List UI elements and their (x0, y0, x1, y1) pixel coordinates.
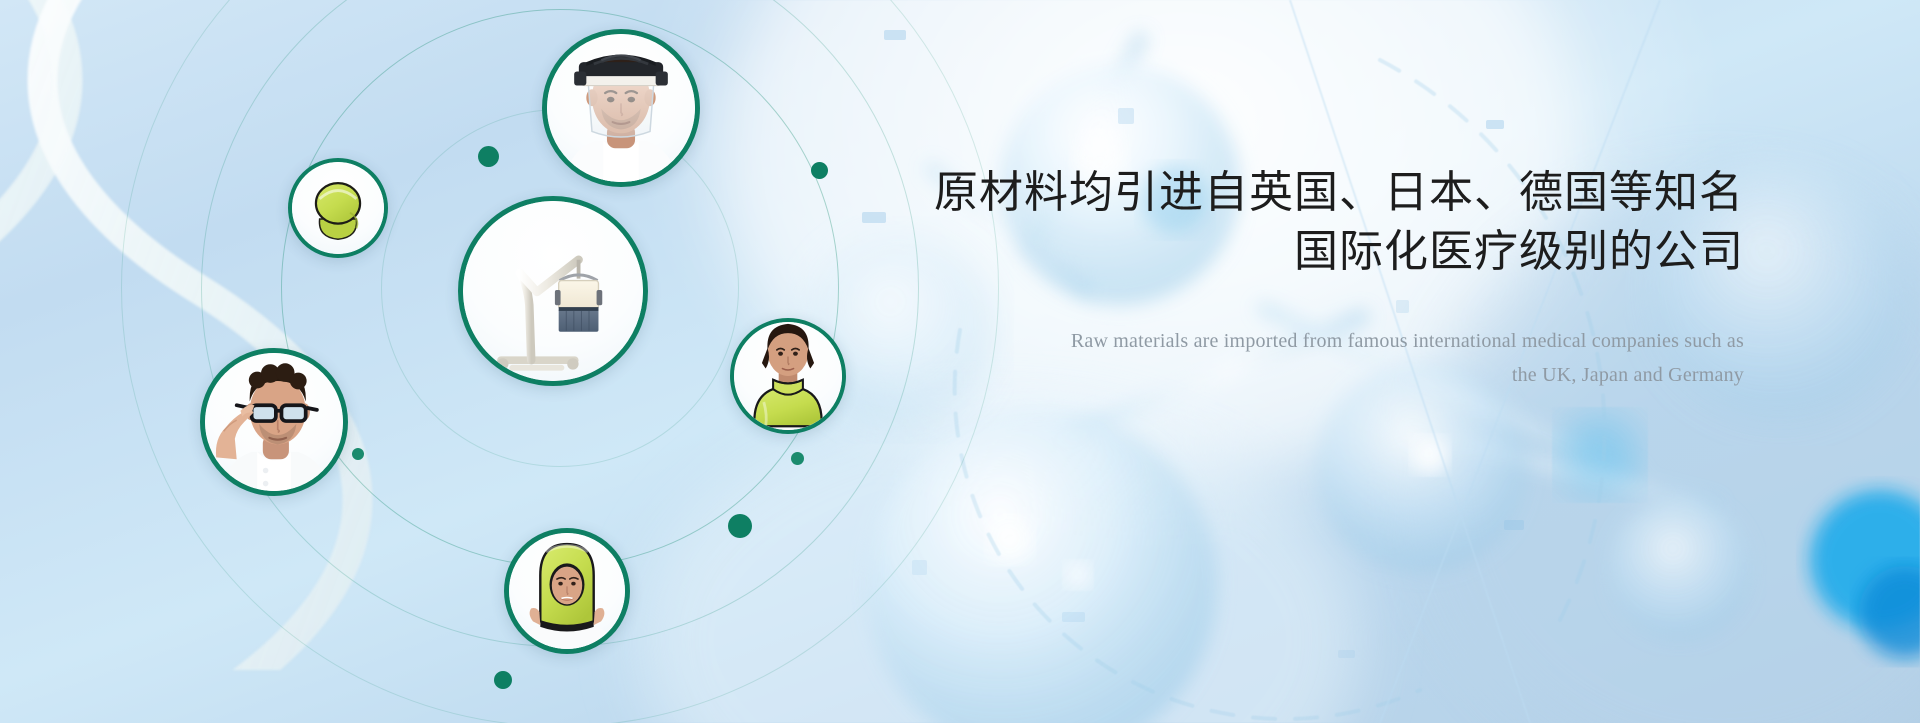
lead-glasses-icon (205, 353, 343, 491)
face-shield-bubble[interactable] (542, 29, 700, 187)
page-title: 原材料均引进自英国、日本、德国等知名 国际化医疗级别的公司 (720, 164, 1744, 282)
orbit-dot (352, 448, 364, 460)
lead-cap-bubble[interactable] (288, 158, 388, 258)
mobile-barrier-icon (463, 201, 643, 381)
orbit-dot (728, 514, 752, 538)
subtitle-line-1: Raw materials are imported from famous i… (720, 324, 1744, 358)
copy-block: 原材料均引进自英国、日本、德国等知名 国际化医疗级别的公司 Raw materi… (720, 164, 1920, 393)
face-shield-icon (547, 34, 695, 182)
lead-glasses-bubble[interactable] (200, 348, 348, 496)
headline-line-2: 国际化医疗级别的公司 (720, 223, 1744, 282)
promo-banner: 原材料均引进自英国、日本、德国等知名 国际化医疗级别的公司 Raw materi… (0, 0, 1920, 723)
lead-cap-icon (292, 162, 384, 254)
orbit-dot (478, 146, 499, 167)
orbit-dot (494, 671, 512, 689)
lead-hood-icon (509, 533, 625, 649)
subtitle-line-2: the UK, Japan and Germany (720, 358, 1744, 392)
mobile-barrier-bubble[interactable] (458, 196, 648, 386)
subtitle: Raw materials are imported from famous i… (720, 324, 1744, 393)
lead-hood-bubble[interactable] (504, 528, 630, 654)
headline-line-1: 原材料均引进自英国、日本、德国等知名 (934, 168, 1744, 217)
orbit-dot (791, 452, 804, 465)
